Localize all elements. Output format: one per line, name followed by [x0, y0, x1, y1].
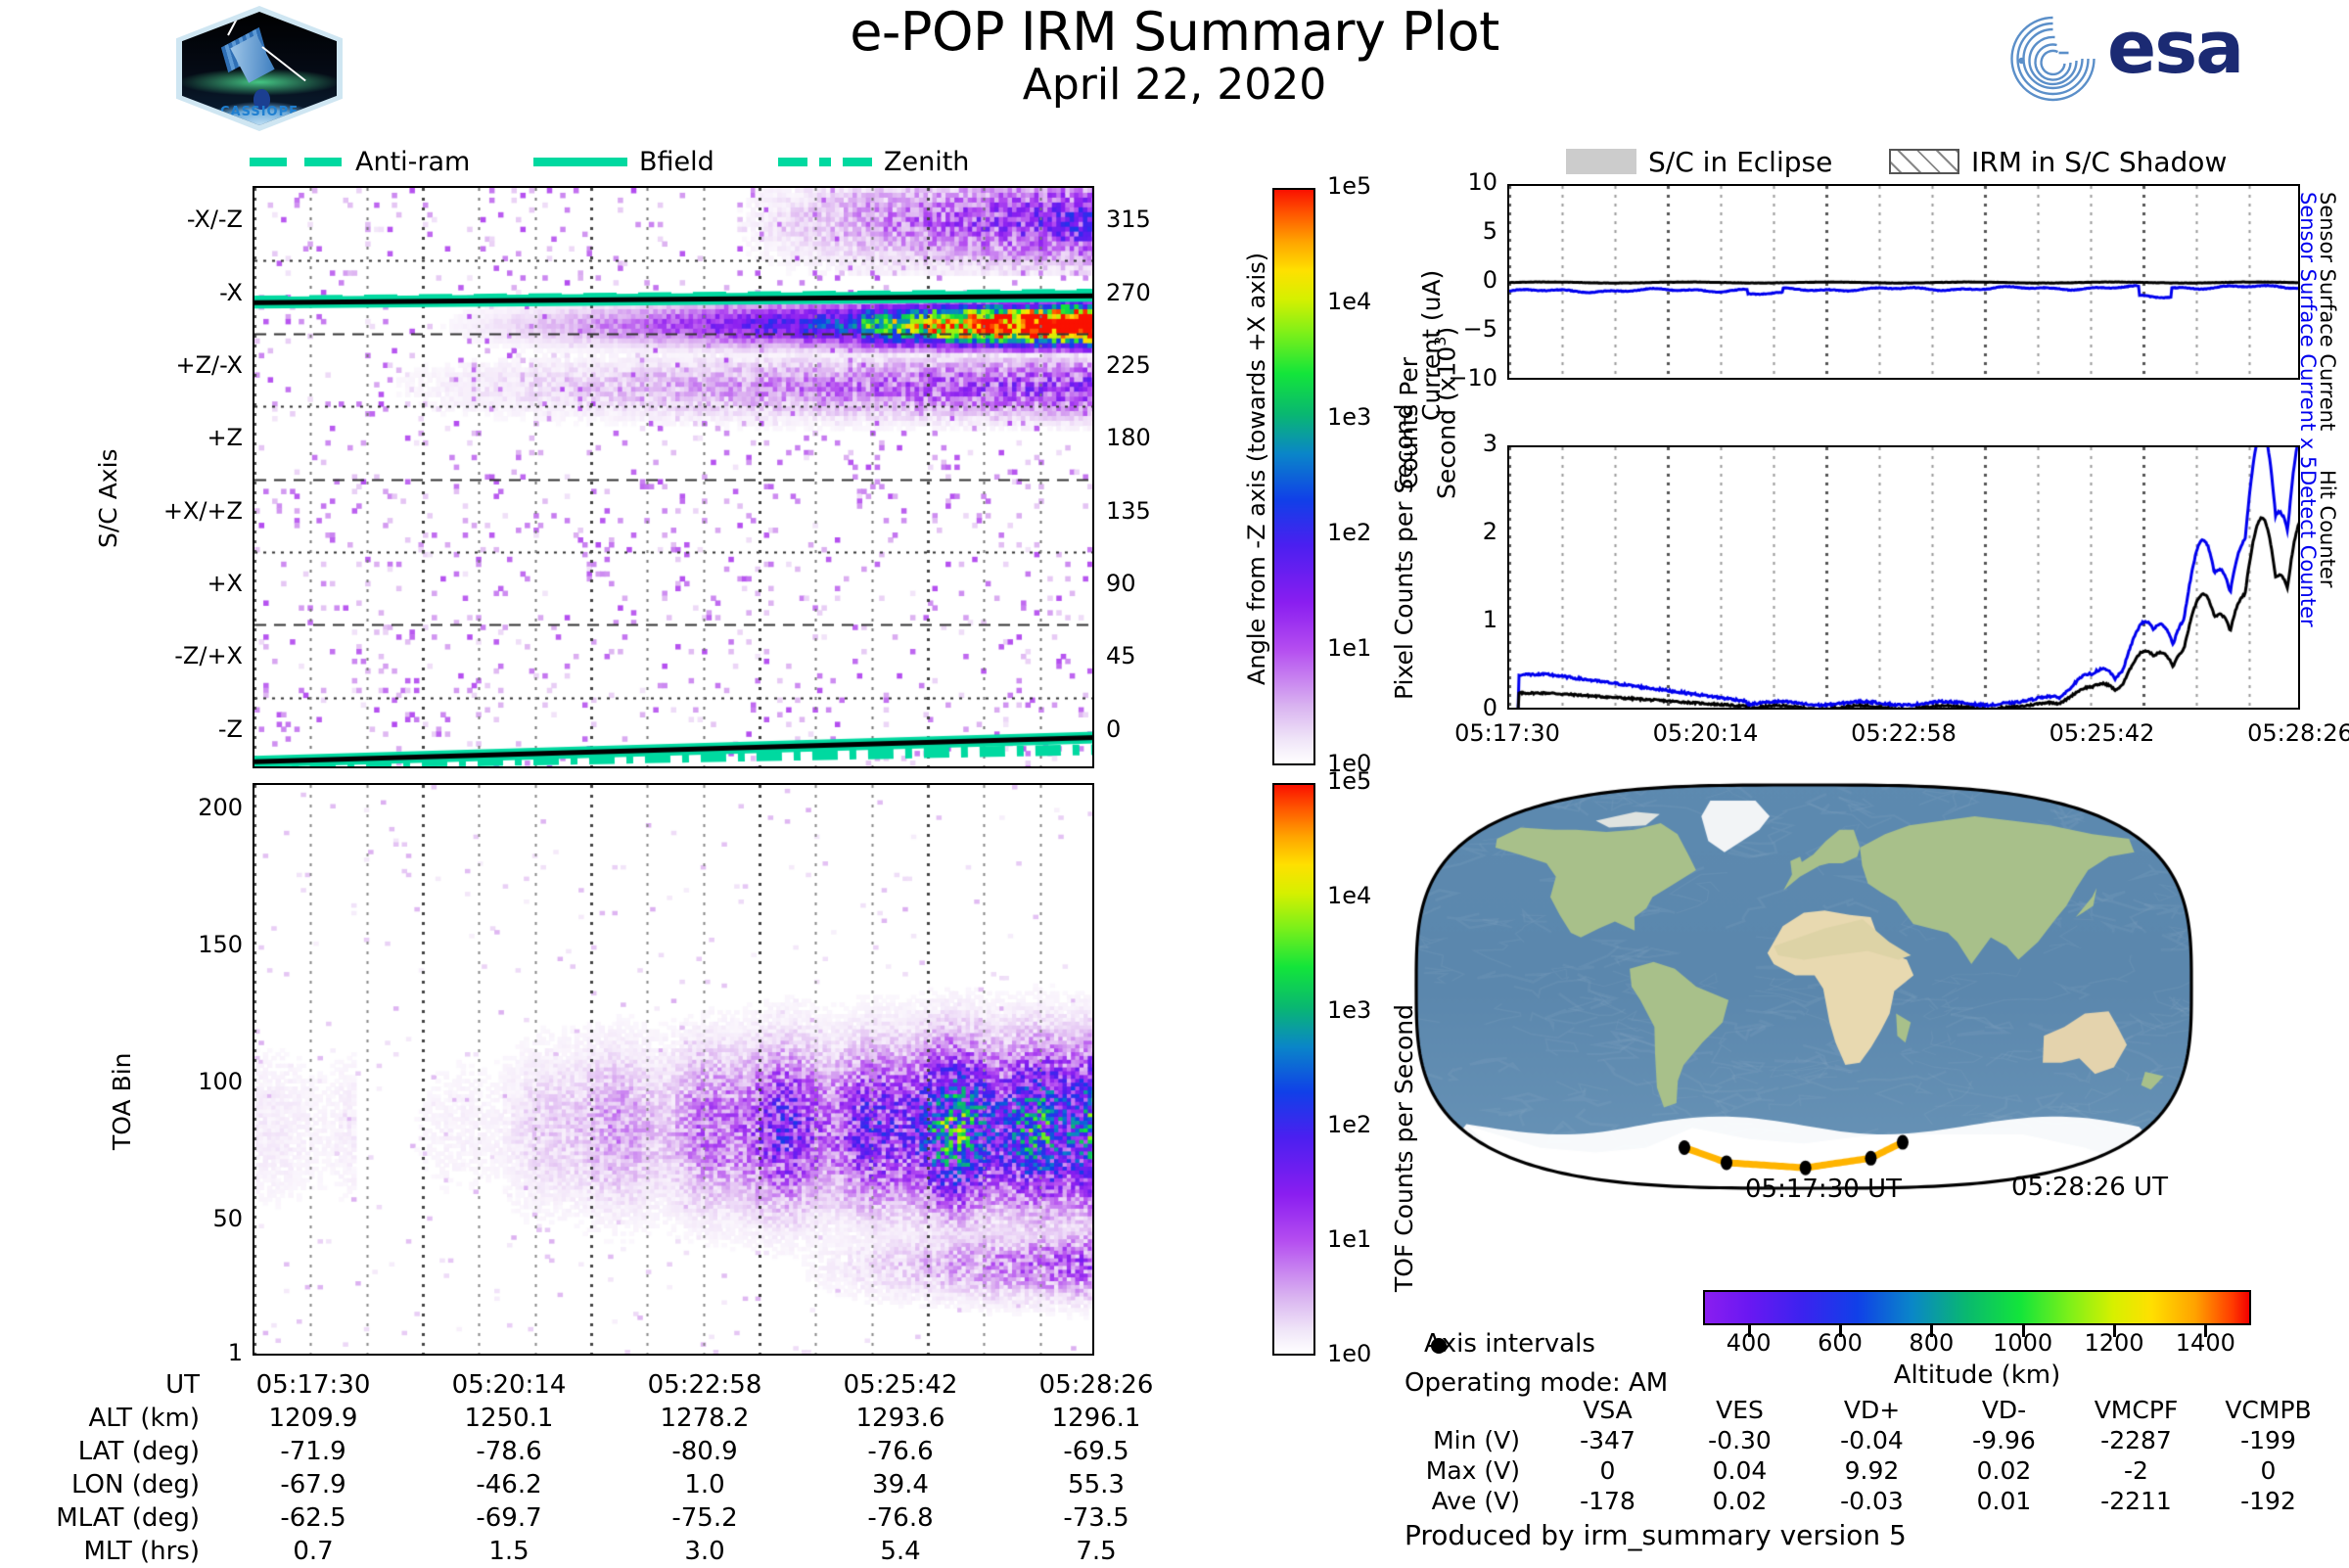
ephemeris-cell: -75.2	[607, 1501, 803, 1535]
voltage-cell: -2	[2070, 1455, 2202, 1486]
legend-label-bfield: Bfield	[639, 147, 714, 177]
current-plot	[1507, 184, 2300, 380]
spectrogram-legend: Anti-ram Bfield Zenith	[250, 145, 954, 178]
map-end-time-label: 05:28:26 UT	[2011, 1173, 2168, 1202]
ephemeris-cell: 7.5	[998, 1535, 1194, 1568]
ephemeris-cell: 5.4	[803, 1535, 998, 1568]
ephemeris-row-label: LAT (deg)	[39, 1435, 215, 1468]
altitude-tickmark-4	[2113, 1325, 2116, 1337]
page-title-block: e-POP IRM Summary Plot April 22, 2020	[685, 4, 1664, 111]
ephemeris-row-label: LON (deg)	[39, 1468, 215, 1501]
voltage-col-header: VD-	[1938, 1395, 2070, 1425]
legend-item-sc-eclipse: S/C in Eclipse	[1566, 145, 1832, 178]
bfield-line-swatch	[533, 158, 627, 166]
sc-axis-ytick-3: +Z	[117, 424, 243, 451]
ephemeris-row-label: ALT (km)	[39, 1402, 215, 1435]
sc-angle-tick-4: 135	[1106, 497, 1174, 525]
sc-angle-tick-1: 270	[1106, 279, 1174, 306]
ephemeris-cell: 05:25:42	[803, 1368, 998, 1402]
voltage-row: Ave (V)-1780.02-0.030.01-2211-192	[1405, 1486, 2334, 1516]
altitude-tickmark-0	[1748, 1325, 1751, 1337]
tof-counts-colorbar	[1272, 783, 1315, 1356]
voltage-cell: -192	[2202, 1486, 2334, 1516]
pixel-cbar-tick-4: 1e1	[1327, 634, 1371, 662]
ephemeris-cell: -62.5	[215, 1501, 411, 1535]
altitude-colorbar	[1703, 1290, 2251, 1325]
ephemeris-cell: 1296.1	[998, 1402, 1194, 1435]
tof-cbar-tick-4: 1e1	[1327, 1225, 1371, 1253]
sc-axis-ytick-4: +X/+Z	[117, 497, 243, 525]
pixel-cbar-tick-3: 1e2	[1327, 519, 1371, 546]
voltage-cell: 0.02	[1938, 1455, 2070, 1486]
toa-ytick-3: 150	[127, 931, 243, 958]
ephemeris-cell: 05:20:14	[411, 1368, 607, 1402]
sc-axis-ytick-6: -Z/+X	[117, 642, 243, 669]
voltage-cell: -0.04	[1806, 1425, 1938, 1455]
ephemeris-row-label: UT	[39, 1368, 215, 1402]
ephemeris-cell: 05:22:58	[607, 1368, 803, 1402]
counts-xtick-0: 05:17:30	[1424, 719, 1590, 747]
sc-axis-ytick-5: +X	[117, 570, 243, 597]
toa-ytick-0: 1	[127, 1339, 243, 1366]
legend-item-irm-shadow: IRM in S/C Shadow	[1889, 145, 2227, 178]
current-ytick-2: 0	[1419, 266, 1497, 294]
voltage-cell: -2211	[2070, 1486, 2202, 1516]
voltage-col-header: VCMPB	[2202, 1395, 2334, 1425]
sc-axis-ytick-7: -Z	[117, 715, 243, 743]
legend-item-zenith: Zenith	[778, 145, 969, 178]
voltage-cell: 9.92	[1806, 1455, 1938, 1486]
ephemeris-cell: 0.7	[215, 1535, 411, 1568]
voltage-col-header: VSA	[1542, 1395, 1674, 1425]
voltage-cell: -178	[1542, 1486, 1674, 1516]
voltage-cell: 0.04	[1674, 1455, 1806, 1486]
altitude-tickmark-3	[2022, 1325, 2025, 1337]
toa-ytick-2: 100	[127, 1068, 243, 1095]
counts-ytick-1: 2	[1439, 518, 1497, 545]
pixel-cbar-tick-0: 1e5	[1327, 172, 1371, 200]
counts-ytick-2: 1	[1439, 606, 1497, 633]
zenith-line-swatch	[778, 158, 872, 166]
counts-ytick-3: 0	[1439, 694, 1497, 721]
voltage-row-label: Ave (V)	[1405, 1486, 1542, 1516]
voltage-cell: -9.96	[1938, 1425, 2070, 1455]
ephemeris-cell: 05:28:26	[998, 1368, 1194, 1402]
ephemeris-cell: -67.9	[215, 1468, 411, 1501]
orbit-world-map	[1412, 781, 2195, 1192]
tof-cbar-tick-1: 1e4	[1327, 882, 1371, 909]
esa-swirl-icon	[2002, 10, 2104, 108]
sc-axis-ytick-2: +Z/-X	[117, 351, 243, 379]
toa-ytick-4: 200	[127, 794, 243, 821]
ephemeris-row-label: MLT (hrs)	[39, 1535, 215, 1568]
ephemeris-cell: 1.0	[607, 1468, 803, 1501]
sc-axis-spectrogram	[253, 186, 1094, 768]
voltage-row: Max (V)00.049.920.02-20	[1405, 1455, 2334, 1486]
pixel-cbar-tick-1: 1e4	[1327, 288, 1371, 315]
voltage-cell: -0.30	[1674, 1425, 1806, 1455]
ephemeris-row-label: MLAT (deg)	[39, 1501, 215, 1535]
anti-ram-line-swatch	[250, 158, 344, 166]
tof-cbar-tick-2: 1e3	[1327, 996, 1371, 1024]
ephemeris-cell: -73.5	[998, 1501, 1194, 1535]
toa-bin-spectrogram	[253, 783, 1094, 1356]
altitude-tickmark-1	[1839, 1325, 1842, 1337]
ephemeris-row: MLAT (deg)-62.5-69.7-75.2-76.8-73.5	[39, 1501, 1194, 1535]
sc-angle-tick-5: 90	[1106, 570, 1174, 597]
voltage-cell: 0	[2202, 1455, 2334, 1486]
counts-xtick-1: 05:20:14	[1623, 719, 1789, 747]
counts-plot	[1507, 445, 2300, 710]
ephemeris-cell: 05:17:30	[215, 1368, 411, 1402]
legend-label-sc-eclipse: S/C in Eclipse	[1648, 146, 1832, 178]
ephemeris-cell: -80.9	[607, 1435, 803, 1468]
voltage-row: Min (V)-347-0.30-0.04-9.96-2287-199	[1405, 1425, 2334, 1455]
esa-logo: esa	[2002, 8, 2334, 111]
ephemeris-row: ALT (km)1209.91250.11278.21293.61296.1	[39, 1402, 1194, 1435]
ephemeris-cell: -69.7	[411, 1501, 607, 1535]
altitude-tickmark-2	[1930, 1325, 1933, 1337]
ephemeris-cell: 1278.2	[607, 1402, 803, 1435]
ephemeris-cell: 55.3	[998, 1468, 1194, 1501]
current-ytick-1: 5	[1419, 217, 1497, 245]
eclipse-legend: S/C in Eclipse IRM in S/C Shadow	[1566, 145, 2251, 176]
counts-ytick-0: 3	[1439, 430, 1497, 457]
map-start-time-label: 05:17:30 UT	[1745, 1175, 1902, 1204]
altitude-tickmark-5	[2204, 1325, 2207, 1337]
irm-shadow-swatch	[1889, 149, 1959, 174]
voltage-col-header: VES	[1674, 1395, 1806, 1425]
counts-xtick-4: 05:28:26	[2217, 719, 2349, 747]
voltage-cell: 0.01	[1938, 1486, 2070, 1516]
sc-axis-ytick-1: -X	[117, 279, 243, 306]
ephemeris-row: LAT (deg)-71.9-78.6-80.9-76.6-69.5	[39, 1435, 1194, 1468]
cassiope-mission-patch: CASSIOPE	[176, 6, 343, 131]
sc-axis-ytick-0: -X/-Z	[117, 206, 243, 233]
ephemeris-cell: 1293.6	[803, 1402, 998, 1435]
axis-intervals-label: Axis intervals	[1424, 1329, 1595, 1359]
counts-ylabel-line2: Second (x103)	[1431, 327, 1460, 499]
sc-angle-tick-3: 180	[1106, 424, 1174, 451]
esa-wordmark: esa	[2107, 12, 2242, 84]
page-title: e-POP IRM Summary Plot	[685, 4, 1664, 61]
voltage-row-label: Min (V)	[1405, 1425, 1542, 1455]
ephemeris-row: UT05:17:3005:20:1405:22:5805:25:4205:28:…	[39, 1368, 1194, 1402]
ephemeris-cell: 1.5	[411, 1535, 607, 1568]
sc-angle-tick-2: 225	[1106, 351, 1174, 379]
ephemeris-cell: 1209.9	[215, 1402, 411, 1435]
voltage-row-label: Max (V)	[1405, 1455, 1542, 1486]
legend-item-anti-ram: Anti-ram	[250, 145, 470, 178]
ephemeris-row: MLT (hrs)0.71.53.05.47.5	[39, 1535, 1194, 1568]
voltage-col-header: VMCPF	[2070, 1395, 2202, 1425]
counts-ylabel-line1: Counts Per	[1395, 357, 1423, 489]
sc-angle-tick-7: 0	[1106, 715, 1174, 743]
toa-ytick-1: 50	[127, 1205, 243, 1232]
voltage-cell: 0	[1542, 1455, 1674, 1486]
sc-angle-tick-6: 45	[1106, 642, 1174, 669]
ephemeris-cell: 1250.1	[411, 1402, 607, 1435]
counts-right-label-black: Hit Counter	[2316, 470, 2339, 587]
ephemeris-cell: -71.9	[215, 1435, 411, 1468]
voltage-cell: -199	[2202, 1425, 2334, 1455]
ephemeris-cell: -76.6	[803, 1435, 998, 1468]
voltage-stats-table: VSAVESVD+VD-VMCPFVCMPB Min (V)-347-0.30-…	[1405, 1395, 2334, 1516]
ephemeris-cell: 39.4	[803, 1468, 998, 1501]
legend-item-bfield: Bfield	[533, 145, 714, 178]
voltage-corner	[1405, 1395, 1542, 1425]
voltage-cell: -2287	[2070, 1425, 2202, 1455]
current-right-label-black: Sensor Surface Current	[2316, 192, 2339, 431]
voltage-col-header: VD+	[1806, 1395, 1938, 1425]
current-ytick-0: 10	[1419, 168, 1497, 196]
ephemeris-cell: -76.8	[803, 1501, 998, 1535]
produced-by-label: Produced by irm_summary version 5	[1405, 1519, 1907, 1551]
tof-cbar-tick-3: 1e2	[1327, 1111, 1371, 1138]
sc-eclipse-swatch	[1566, 149, 1636, 174]
ephemeris-table: UT05:17:3005:20:1405:22:5805:25:4205:28:…	[39, 1368, 1194, 1568]
legend-label-zenith: Zenith	[884, 147, 969, 177]
ephemeris-cell: -69.5	[998, 1435, 1194, 1468]
tof-cbar-tick-0: 1e5	[1327, 767, 1371, 795]
counts-xtick-2: 05:22:58	[1820, 719, 1987, 747]
ephemeris-cell: -78.6	[411, 1435, 607, 1468]
voltage-cell: -347	[1542, 1425, 1674, 1455]
page-subtitle: April 22, 2020	[685, 61, 1664, 111]
voltage-cell: 0.02	[1674, 1486, 1806, 1516]
sc-axis-angle-label: Angle from -Z axis (towards +X axis)	[1243, 253, 1270, 685]
operating-mode-label: Operating mode: AM	[1405, 1368, 1668, 1398]
sc-angle-tick-0: 315	[1106, 206, 1174, 233]
ephemeris-cell: 3.0	[607, 1535, 803, 1568]
ephemeris-row: LON (deg)-67.9-46.21.039.455.3	[39, 1468, 1194, 1501]
altitude-colorbar-label: Altitude (km)	[1703, 1360, 2251, 1390]
legend-label-irm-shadow: IRM in S/C Shadow	[1971, 146, 2227, 178]
tof-cbar-tick-5: 1e0	[1327, 1340, 1371, 1367]
ephemeris-cell: -46.2	[411, 1468, 607, 1501]
pixel-cbar-tick-2: 1e3	[1327, 403, 1371, 431]
voltage-cell: -0.03	[1806, 1486, 1938, 1516]
legend-label-anti-ram: Anti-ram	[355, 147, 470, 177]
pixel-counts-colorbar	[1272, 188, 1315, 765]
counts-xtick-3: 05:25:42	[2019, 719, 2186, 747]
